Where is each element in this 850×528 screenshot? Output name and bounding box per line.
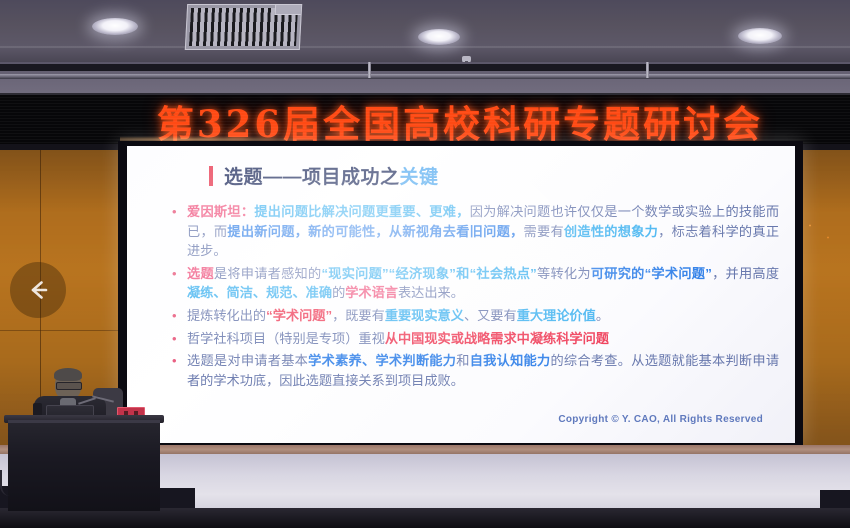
bullet-2-run-9: 学术语言 — [345, 285, 398, 300]
bullet-2-run-2: 是将申请者感知的 — [214, 266, 322, 281]
ceiling-light-1 — [92, 18, 138, 35]
bullet-3-run-5: 、又要有 — [464, 308, 517, 323]
projection-screen: 选题——项目成功之 关键 爱因斯坦：提出问题比解决问题更重要、更难，因为解决问题… — [127, 146, 795, 443]
bullet-2-run-4: 等转化为 — [537, 266, 591, 281]
ceiling-rail — [0, 74, 850, 79]
ceiling-light-2 — [418, 29, 460, 45]
bullet-2-run-7: 凝练、简洁、规范、准确 — [187, 285, 332, 300]
stage-front-edge — [0, 508, 850, 528]
wood-seam — [0, 330, 118, 331]
title-accent-bar — [209, 166, 213, 186]
presenter-hair — [54, 368, 82, 381]
bullet-1-run-1: 爱因斯坦： — [187, 204, 254, 219]
slide-bullet-list: 爱因斯坦：提出问题比解决问题更重要、更难，因为解决问题也许仅仅是一个数学或实验上… — [167, 202, 779, 393]
bullet-3-run-7: 。 — [596, 308, 609, 323]
bullet-1-run-6: 创造性的想象力 — [564, 224, 658, 239]
bullet-4-run-1: 哲学社科项目（特别是专项）重视 — [187, 331, 385, 346]
slide-bullet-4: 哲学社科项目（特别是专项）重视从中国现实或战略需求中凝练科学问题 — [167, 329, 779, 349]
ceiling-seam — [0, 46, 850, 48]
slide-bullet-1: 爱因斯坦：提出问题比解决问题更重要、更难，因为解决问题也许仅仅是一个数学或实验上… — [167, 202, 779, 261]
slide-title: 选题——项目成功之 关键 — [209, 162, 439, 189]
back-button[interactable] — [10, 262, 66, 318]
podium — [8, 420, 160, 511]
stage-block-center — [155, 488, 195, 508]
bullet-3-run-2: “学术问题” — [266, 308, 332, 323]
rail-post-1 — [368, 62, 371, 78]
bullet-2-run-8: 的 — [332, 285, 345, 300]
copyright-notice: Copyright © Y. CAO, All Rights Reserved — [558, 414, 763, 425]
air-vent — [185, 4, 302, 50]
bullet-5-run-4: 自我认知能力 — [470, 353, 551, 368]
slide-bullet-3: 提炼转化出的“学术问题”，既要有重要现实意义、又要有重大理论价值。 — [167, 306, 779, 326]
slide-title-highlight: 关键 — [400, 162, 439, 189]
bullet-5-run-1: 选题是对申请者基本 — [187, 353, 308, 368]
bullet-4-run-2: 从中国现实或战略需求中凝练科学问题 — [385, 331, 609, 346]
slide-title-main: 选题——项目成功之 — [224, 162, 400, 189]
bullet-1-run-5: 需要有 — [524, 224, 564, 239]
bullet-2-run-6: ，并用高度 — [712, 266, 779, 281]
floor-cable — [0, 470, 18, 496]
bullet-2-run-10: 表达出来。 — [398, 285, 464, 300]
presenter-glasses — [56, 382, 82, 390]
bullet-2-run-1: 选题 — [187, 266, 214, 281]
lecture-hall-scene: 第326届全国高校科研专题研讨会 选题——项目成功之 关键 爱因斯坦：提出问题比… — [0, 0, 850, 528]
bullet-3-run-6: 重大理论价值 — [517, 308, 596, 323]
arrow-left-icon — [23, 275, 53, 305]
bullet-3-run-4: 重要现实意义 — [385, 308, 464, 323]
bullet-1-run-4: 提出新问题，新的可能性，从新视角去看旧问题， — [227, 224, 523, 239]
rail-post-2 — [646, 62, 649, 78]
stage-block-right — [820, 490, 850, 508]
bullet-5-run-3: 和 — [456, 353, 469, 368]
bullet-3-run-3: ，既要有 — [332, 308, 385, 323]
ceiling-shadow-strip — [0, 64, 850, 71]
bullet-2-run-3: “现实问题”“经济现象”和“社会热点” — [321, 266, 536, 281]
ceiling-light-3 — [738, 28, 782, 44]
bullet-1-run-2: 提出问题比解决问题更重要、更难， — [254, 204, 469, 219]
slide-bullet-5: 选题是对申请者基本学术素养、学术判断能力和自我认知能力的综合考查。从选题就能基本… — [167, 351, 779, 390]
bullet-3-run-1: 提炼转化出的 — [187, 308, 266, 323]
slide-bullet-2: 选题是将申请者感知的“现实问题”“经济现象”和“社会热点”等转化为可研究的“学术… — [167, 264, 779, 303]
bullet-5-run-2: 学术素养、学术判断能力 — [308, 353, 456, 368]
wood-panel-3 — [803, 150, 850, 450]
bullet-2-run-5: 可研究的“学术问题” — [591, 266, 712, 281]
